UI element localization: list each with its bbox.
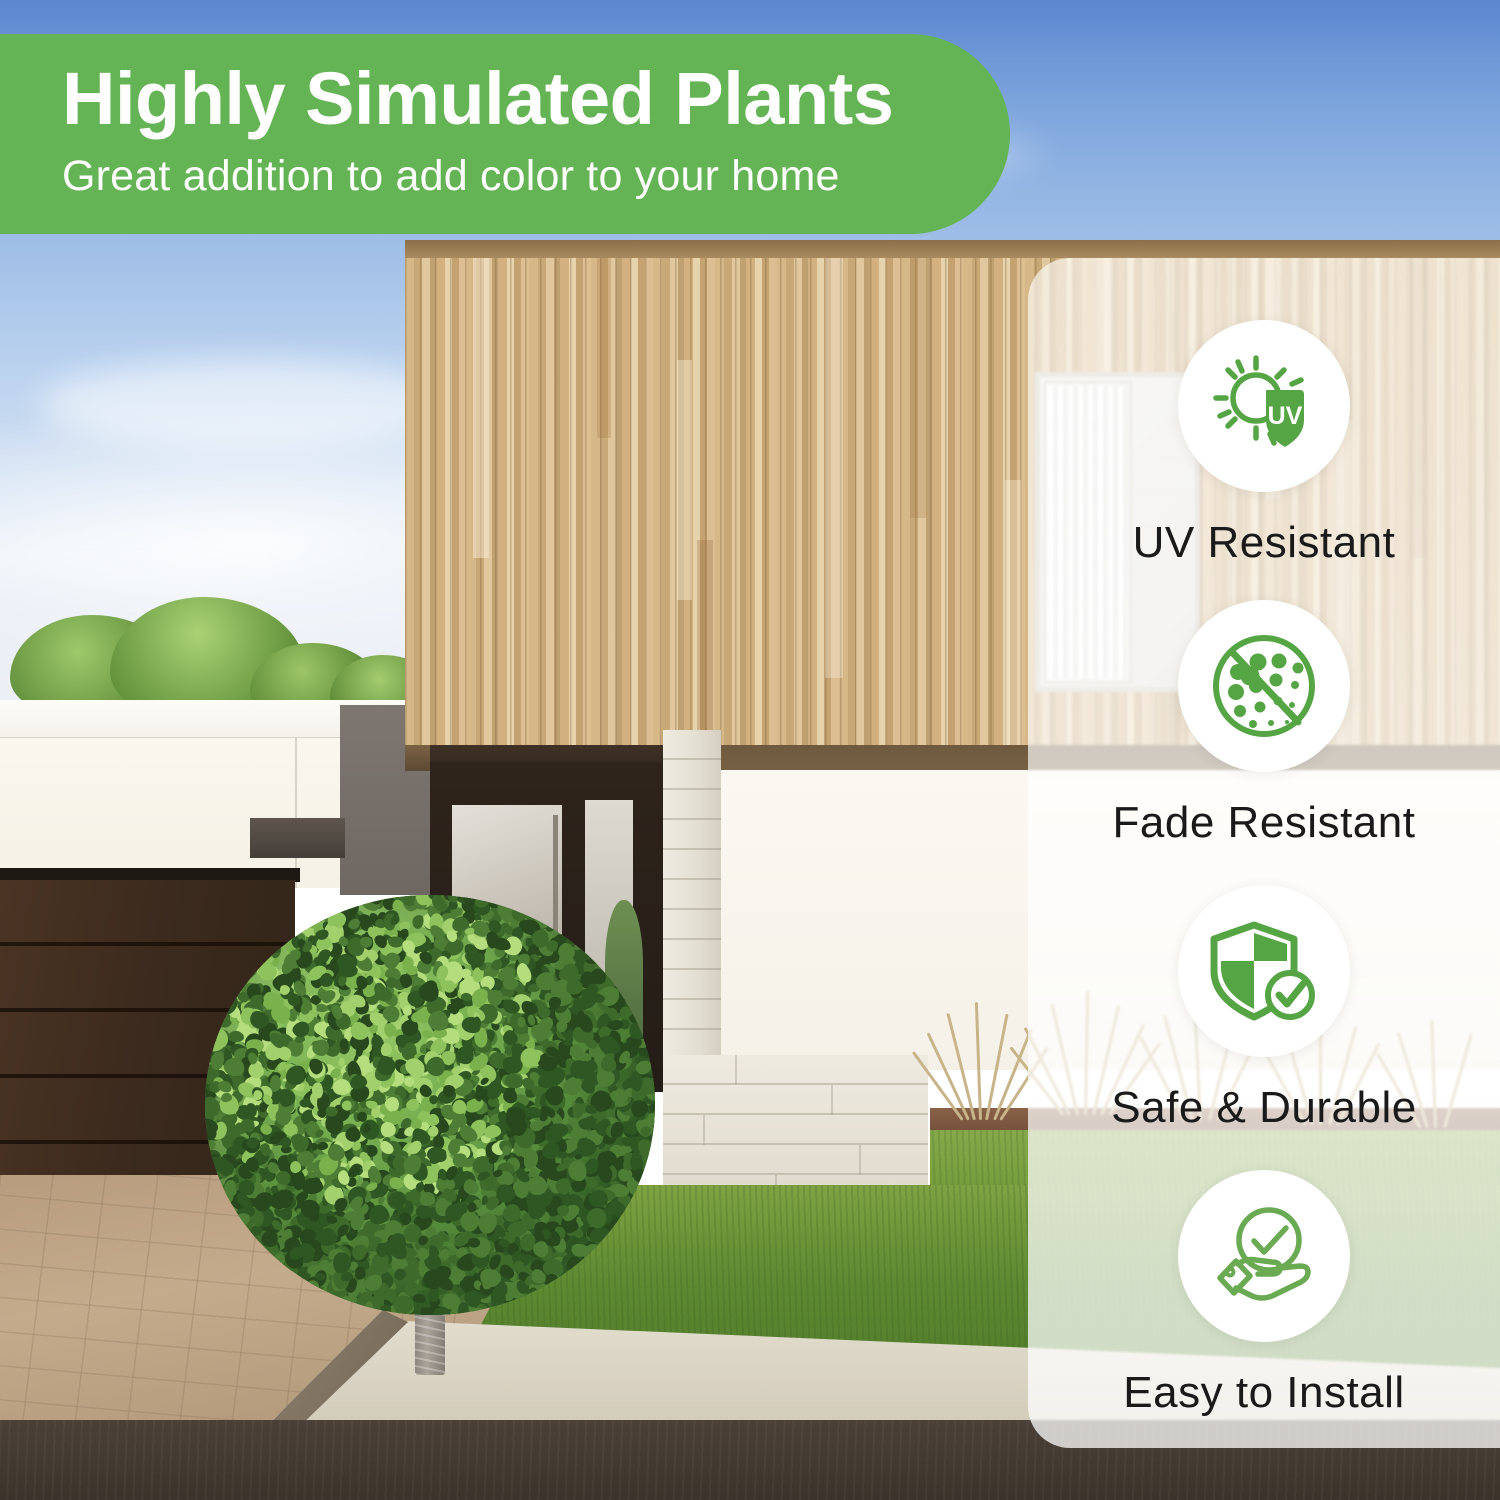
- feature-label: Easy to Install: [1028, 1368, 1500, 1418]
- artificial-topiary-ball: [205, 895, 655, 1315]
- shield-check-icon: [1178, 885, 1350, 1057]
- feature-label: UV Resistant: [1028, 518, 1500, 568]
- topiary-leaf-texture: [205, 895, 655, 1315]
- product-marketing-image: UV UV Resistant: [0, 0, 1500, 1500]
- feature-list: UV UV Resistant: [1028, 258, 1500, 1448]
- ornamental-grass-clump: [935, 1000, 1025, 1120]
- no-fade-dots-icon: [1178, 600, 1350, 772]
- page-title: Highly Simulated Plants: [62, 60, 1010, 138]
- sun-uv-shield-icon: UV: [1178, 320, 1350, 492]
- headline-banner: Highly Simulated Plants Great addition t…: [0, 34, 1010, 234]
- hand-check-icon: [1178, 1170, 1350, 1342]
- feature-label: Fade Resistant: [1028, 798, 1500, 848]
- feature-label: Safe & Durable: [1028, 1083, 1500, 1133]
- roof-fascia: [405, 240, 1500, 258]
- small-window: [250, 818, 345, 858]
- left-white-wall: [0, 738, 350, 888]
- uv-badge-text: UV: [1268, 402, 1303, 430]
- page-subtitle: Great addition to add color to your home: [62, 152, 1010, 201]
